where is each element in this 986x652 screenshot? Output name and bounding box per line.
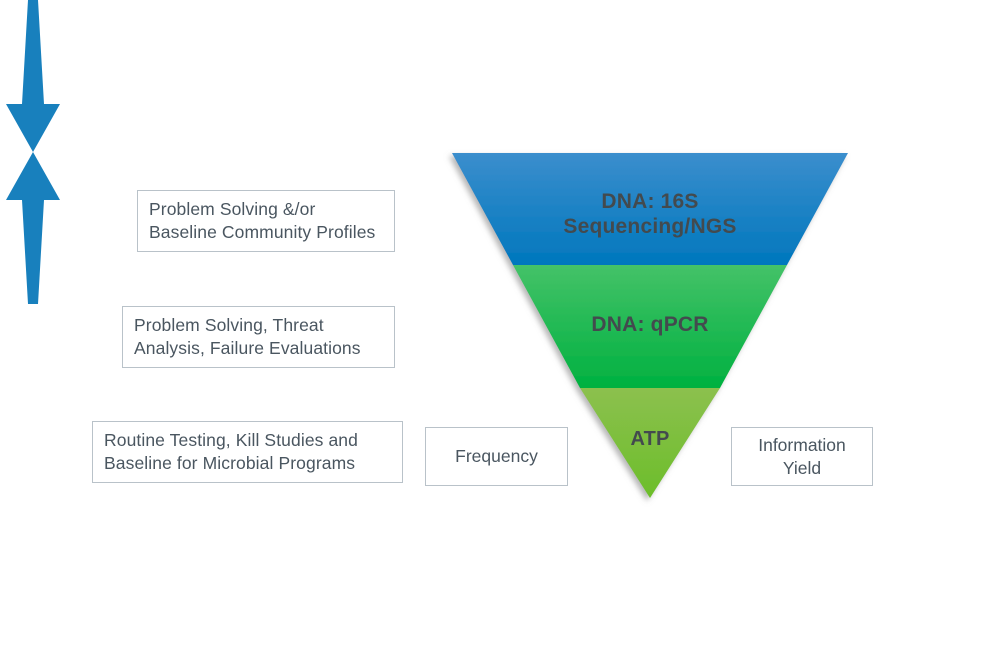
description-box-problem-solving-baseline: Problem Solving &/or Baseline Community …: [137, 190, 395, 252]
pyramid-tier-atp: [580, 388, 720, 498]
description-box-routine-testing: Routine Testing, Kill Studies and Baseli…: [92, 421, 403, 483]
description-box-problem-solving-threat: Problem Solving, Threat Analysis, Failur…: [122, 306, 395, 368]
axis-label-information-yield: Information Yield: [731, 427, 873, 486]
arrow-down-icon: [0, 0, 66, 152]
frequency-arrow: [0, 0, 66, 152]
diagram-canvas: Problem Solving &/or Baseline Community …: [0, 0, 986, 652]
information-yield-arrow: [0, 152, 66, 304]
axis-label-frequency: Frequency: [425, 427, 568, 486]
pyramid-tier-dna-qpcr: [513, 265, 787, 388]
arrow-up-icon: [0, 152, 66, 304]
pyramid-tier-dna-16s-ngs: [452, 153, 848, 265]
